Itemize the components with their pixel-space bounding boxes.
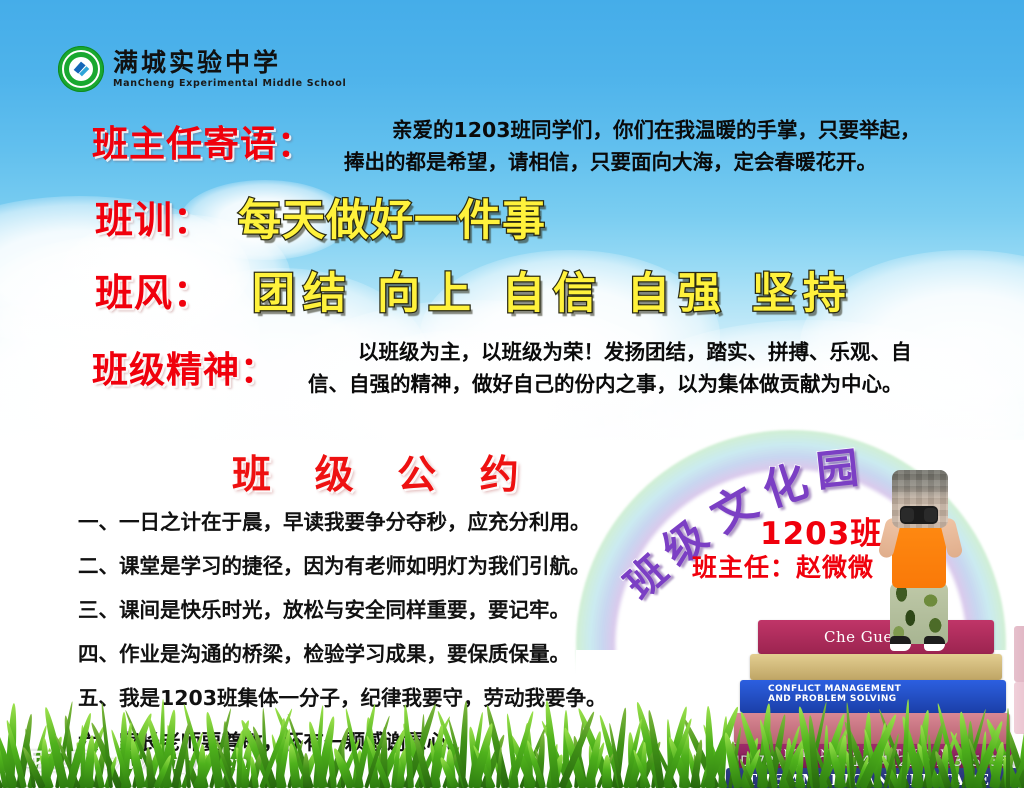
grass-blade — [602, 755, 612, 788]
school-name-en: ManCheng Experimental Middle School — [113, 79, 346, 89]
spirit-line-1: 以班级为主，以班级为荣！发扬团结，踏实、拼搏、乐观、自 — [358, 340, 912, 364]
spirit-text: 以班级为主，以班级为荣！发扬团结，踏实、拼搏、乐观、自 信、自强的精神，做好自己… — [358, 336, 912, 400]
sneaker — [890, 636, 911, 651]
camo-pants — [890, 582, 948, 644]
pledge-item: 四、作业是沟通的桥梁，检验学习成果，要保质保量。 — [78, 632, 658, 676]
class-culture-poster: 满城实验中学 ManCheng Experimental Middle Scho… — [0, 0, 1024, 788]
message-line-2: 捧出的都是希望，请相信，只要面向大海，定会春暖花开。 — [344, 146, 921, 178]
message-text: 亲爱的1203班同学们，你们在我温暖的手掌，只要举起， 捧出的都是希望，请相信，… — [392, 114, 921, 178]
head-teacher-name: 班主任：赵微微 — [692, 548, 874, 584]
school-name-cn: 满城实验中学 — [113, 50, 346, 75]
class-number: 1203班 — [760, 508, 882, 553]
message-label: 班主任寄语： — [92, 115, 314, 167]
pledge-item: 三、课间是快乐时光，放松与安全同样重要，要记牢。 — [78, 588, 658, 632]
style-value: 团结 向上 自信 自强 坚持 — [252, 259, 854, 321]
student-photo — [866, 470, 976, 640]
school-logo: 满城实验中学 ManCheng Experimental Middle Scho… — [58, 46, 346, 92]
style-label: 班风： — [95, 262, 212, 317]
pledge-item: 二、课堂是学习的捷径，因为有老师如明灯为我们引航。 — [78, 544, 658, 588]
orange-shirt — [892, 520, 946, 588]
pledge-item: 一、一日之计在于晨，早读我要争分夺秒，应充分利用。 — [78, 500, 658, 544]
grass-blade — [1006, 708, 1010, 788]
pledge-title: 班 级 公 约 — [232, 444, 534, 500]
spirit-line-2: 信、自强的精神，做好自己的份内之事，以为集体做贡献为中心。 — [308, 368, 912, 400]
grass-blade — [543, 700, 560, 788]
spirit-label: 班级精神： — [92, 341, 277, 393]
book-tan — [750, 654, 1002, 680]
emblem-glyph-icon — [70, 58, 92, 80]
motto-label: 班训： — [95, 189, 212, 244]
grass-strip — [0, 692, 1024, 788]
sneaker — [924, 636, 945, 651]
side-book — [1014, 626, 1024, 682]
school-name-block: 满城实验中学 ManCheng Experimental Middle Scho… — [113, 50, 346, 89]
message-line-1: 亲爱的1203班同学们，你们在我温暖的手掌，只要举起， — [392, 118, 921, 142]
school-emblem-icon — [58, 46, 104, 92]
motto-value: 每天做好一件事 — [238, 186, 546, 248]
binoculars-icon — [900, 506, 938, 524]
